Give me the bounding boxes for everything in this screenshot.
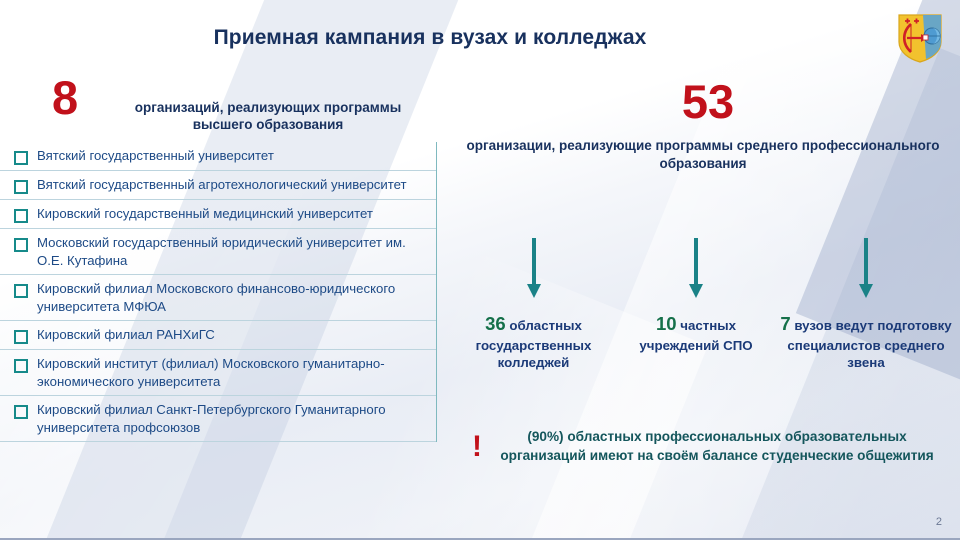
checkbox-icon bbox=[14, 238, 28, 252]
list-item[interactable]: Кировский филиал Санкт-Петербургского Гу… bbox=[0, 395, 436, 442]
checkbox-icon bbox=[14, 359, 28, 373]
higher-education-header: 8 организаций, реализующих программы выс… bbox=[0, 82, 440, 140]
list-item-label: Кировский институт (филиал) Московского … bbox=[37, 355, 430, 390]
list-item-label: Кировский филиал Санкт-Петербургского Гу… bbox=[37, 401, 430, 436]
list-item[interactable]: Московский государственный юридический у… bbox=[0, 228, 436, 274]
checkbox-icon bbox=[14, 330, 28, 344]
list-item[interactable]: Кировский филиал РАНХиГС bbox=[0, 320, 436, 349]
stat-number: 36 bbox=[485, 313, 506, 334]
list-item[interactable]: Кировский институт (филиал) Московского … bbox=[0, 349, 436, 395]
higher-education-count: 8 bbox=[52, 74, 78, 121]
vocational-education-heading: организации, реализующие программы средн… bbox=[446, 137, 960, 173]
stat-number: 10 bbox=[656, 313, 677, 334]
list-item-label: Вятский государственный университет bbox=[37, 147, 274, 165]
exclamation-icon: ! bbox=[462, 432, 492, 462]
checkbox-icon bbox=[14, 405, 28, 419]
page-number: 2 bbox=[936, 516, 942, 528]
higher-education-list: Вятский государственный университет Вятс… bbox=[0, 142, 437, 442]
kirov-oblast-coat-of-arms-icon bbox=[893, 12, 947, 64]
list-item[interactable]: Кировский филиал Московского финансово-ю… bbox=[0, 274, 436, 320]
stat-text: 36 областных государственных колледжей bbox=[446, 312, 621, 372]
checkbox-icon bbox=[14, 151, 28, 165]
down-arrow-icon bbox=[526, 238, 542, 300]
list-item-label: Кировский филиал РАНХиГС bbox=[37, 326, 215, 344]
list-item-label: Кировский филиал Московского финансово-ю… bbox=[37, 280, 430, 315]
page-title: Приемная кампания в вузах и колледжах bbox=[0, 26, 860, 50]
checkbox-icon bbox=[14, 284, 28, 298]
stat-block-private-institutions: 10 частных учреждений СПО bbox=[626, 238, 766, 354]
list-item[interactable]: Кировский государственный медицинский ун… bbox=[0, 199, 436, 228]
down-arrow-icon bbox=[858, 238, 874, 300]
stat-number: 7 bbox=[780, 313, 790, 334]
list-item-label: Вятский государственный агротехнологичес… bbox=[37, 176, 407, 194]
down-arrow-icon bbox=[688, 238, 704, 300]
stat-block-universities: 7 вузов ведут подготовку специалистов ср… bbox=[771, 238, 960, 372]
list-item-label: Московский государственный юридический у… bbox=[37, 234, 430, 269]
list-item-label: Кировский государственный медицинский ун… bbox=[37, 205, 373, 223]
slide-canvas: Приемная кампания в вузах и колледжах 8 … bbox=[0, 0, 960, 540]
stat-text: 7 вузов ведут подготовку специалистов ср… bbox=[771, 312, 960, 372]
stat-block-regional-colleges: 36 областных государственных колледжей bbox=[446, 238, 621, 372]
checkbox-icon bbox=[14, 180, 28, 194]
checkbox-icon bbox=[14, 209, 28, 223]
vocational-stats-group: 36 областных государственных колледжей 1… bbox=[446, 238, 960, 408]
list-item[interactable]: Вятский государственный университет bbox=[0, 142, 436, 170]
stat-label: вузов ведут подготовку специалистов сред… bbox=[787, 318, 951, 370]
higher-education-heading: организаций, реализующих программы высше… bbox=[118, 99, 418, 134]
dormitory-note-text: (90%) областных профессиональных образов… bbox=[492, 428, 942, 466]
dormitory-note: ! (90%) областных профессиональных образ… bbox=[462, 428, 942, 466]
higher-education-section: 8 организаций, реализующих программы выс… bbox=[0, 82, 440, 442]
stat-text: 10 частных учреждений СПО bbox=[626, 312, 766, 354]
vocational-education-count: 53 bbox=[456, 78, 960, 125]
list-item[interactable]: Вятский государственный агротехнологичес… bbox=[0, 170, 436, 199]
vocational-education-section: 53 организации, реализующие программы ср… bbox=[446, 78, 960, 173]
